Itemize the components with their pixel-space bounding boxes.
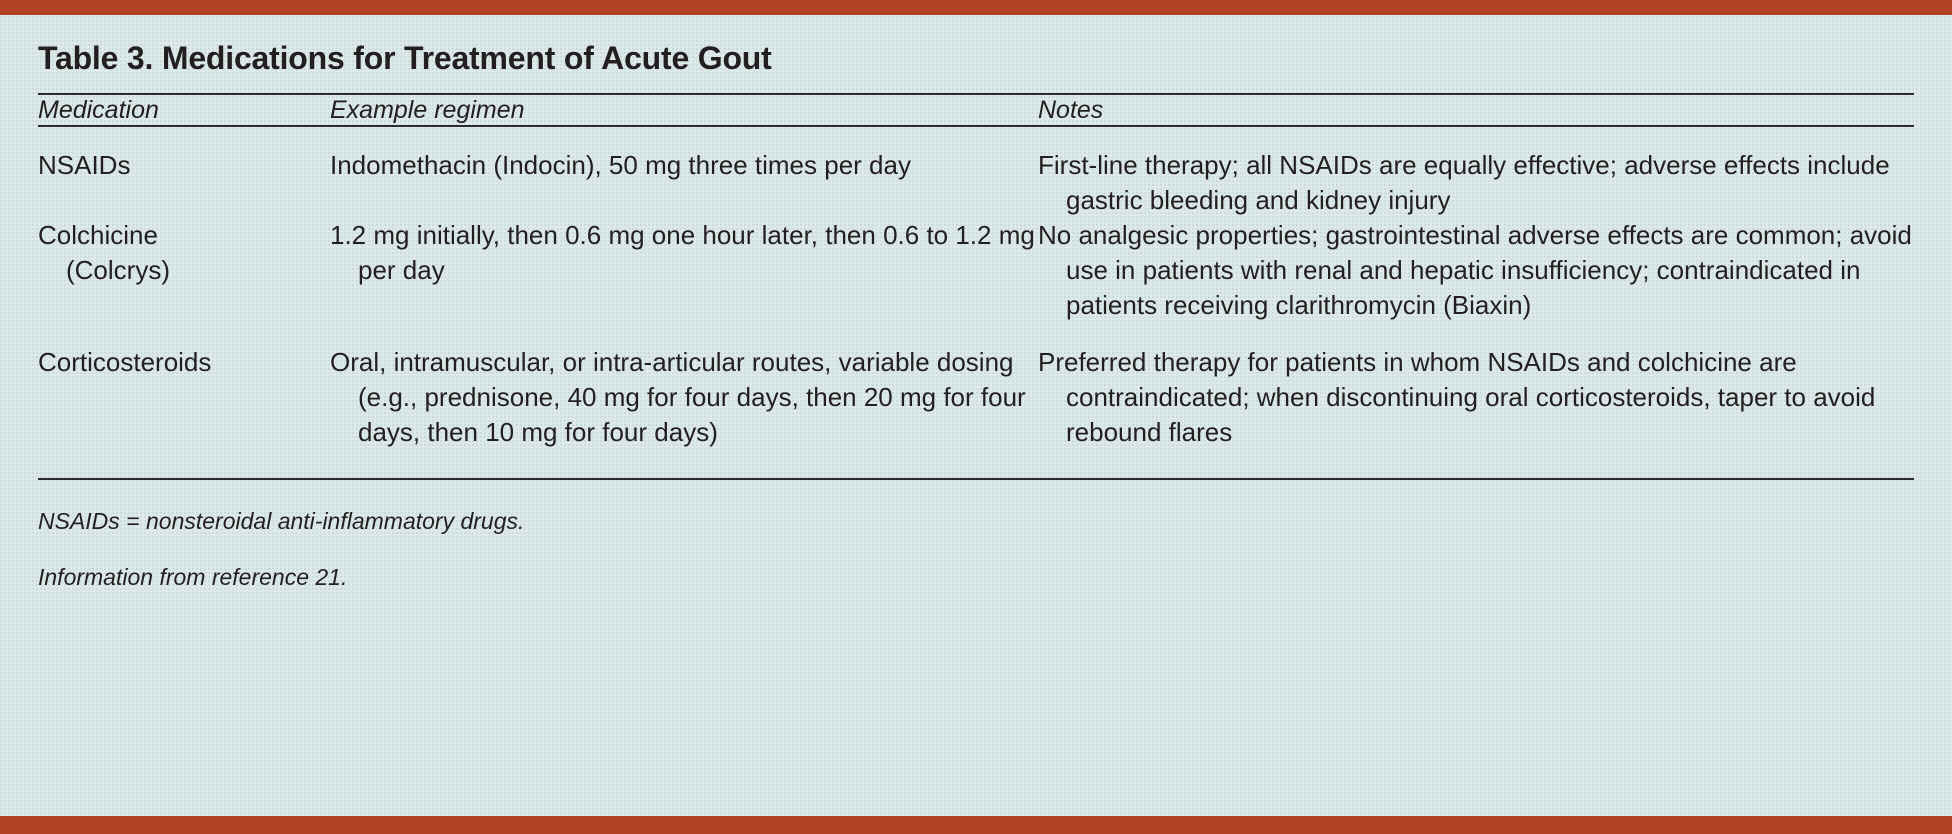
top-accent-bar — [0, 0, 1952, 15]
table-header-row: Medication Example regimen Notes — [38, 95, 1914, 125]
cell-regimen: 1.2 mg initially, then 0.6 mg one hour l… — [330, 218, 1038, 323]
row-spacer — [38, 323, 1914, 345]
table-row: Corticosteroids Oral, intramuscular, or … — [38, 345, 1914, 450]
cell-medication: Corticosteroids — [38, 345, 330, 450]
column-header-regimen: Example regimen — [330, 95, 1038, 125]
cell-regimen: Oral, intramuscular, or intra-articular … — [330, 345, 1038, 450]
cell-notes: First-line therapy; all NSAIDs are equal… — [1038, 127, 1914, 218]
footnote-source: Information from reference 21. — [38, 562, 1914, 592]
bottom-accent-bar — [0, 816, 1952, 834]
cell-notes: No analgesic properties; gastrointestina… — [1038, 218, 1914, 323]
column-header-notes: Notes — [1038, 95, 1914, 125]
cell-medication: Colchicine (Colcrys) — [38, 218, 330, 323]
table-row: NSAIDs Indomethacin (Indocin), 50 mg thr… — [38, 127, 1914, 218]
medication-name-continued: (Colcrys) — [38, 253, 330, 288]
table-title: Table 3. Medications for Treatment of Ac… — [38, 15, 1914, 78]
cell-medication: NSAIDs — [38, 127, 330, 218]
notes-text: No analgesic properties; gastrointestina… — [1038, 218, 1914, 323]
cell-notes: Preferred therapy for patients in whom N… — [1038, 345, 1914, 450]
footnotes: NSAIDs = nonsteroidal anti-inflammatory … — [38, 480, 1914, 592]
medication-name: Corticosteroids — [38, 345, 330, 380]
column-header-medication: Medication — [38, 95, 330, 125]
figure-content: Table 3. Medications for Treatment of Ac… — [38, 15, 1914, 592]
notes-text: Preferred therapy for patients in whom N… — [1038, 345, 1914, 450]
medication-name: NSAIDs — [38, 148, 330, 183]
regimen-text: Indomethacin (Indocin), 50 mg three time… — [330, 148, 1038, 183]
regimen-text: Oral, intramuscular, or intra-articular … — [330, 345, 1038, 450]
cell-regimen: Indomethacin (Indocin), 50 mg three time… — [330, 127, 1038, 218]
footnote-abbreviations: NSAIDs = nonsteroidal anti-inflammatory … — [38, 506, 1914, 562]
table-figure: Table 3. Medications for Treatment of Ac… — [0, 0, 1952, 834]
medications-table-body: NSAIDs Indomethacin (Indocin), 50 mg thr… — [38, 127, 1914, 450]
medications-table: Medication Example regimen Notes — [38, 95, 1914, 125]
table-row: Colchicine (Colcrys) 1.2 mg initially, t… — [38, 218, 1914, 323]
bottom-spacer — [38, 450, 1914, 478]
regimen-text: 1.2 mg initially, then 0.6 mg one hour l… — [330, 218, 1038, 288]
notes-text: First-line therapy; all NSAIDs are equal… — [1038, 148, 1914, 218]
medication-name: Colchicine — [38, 218, 330, 253]
